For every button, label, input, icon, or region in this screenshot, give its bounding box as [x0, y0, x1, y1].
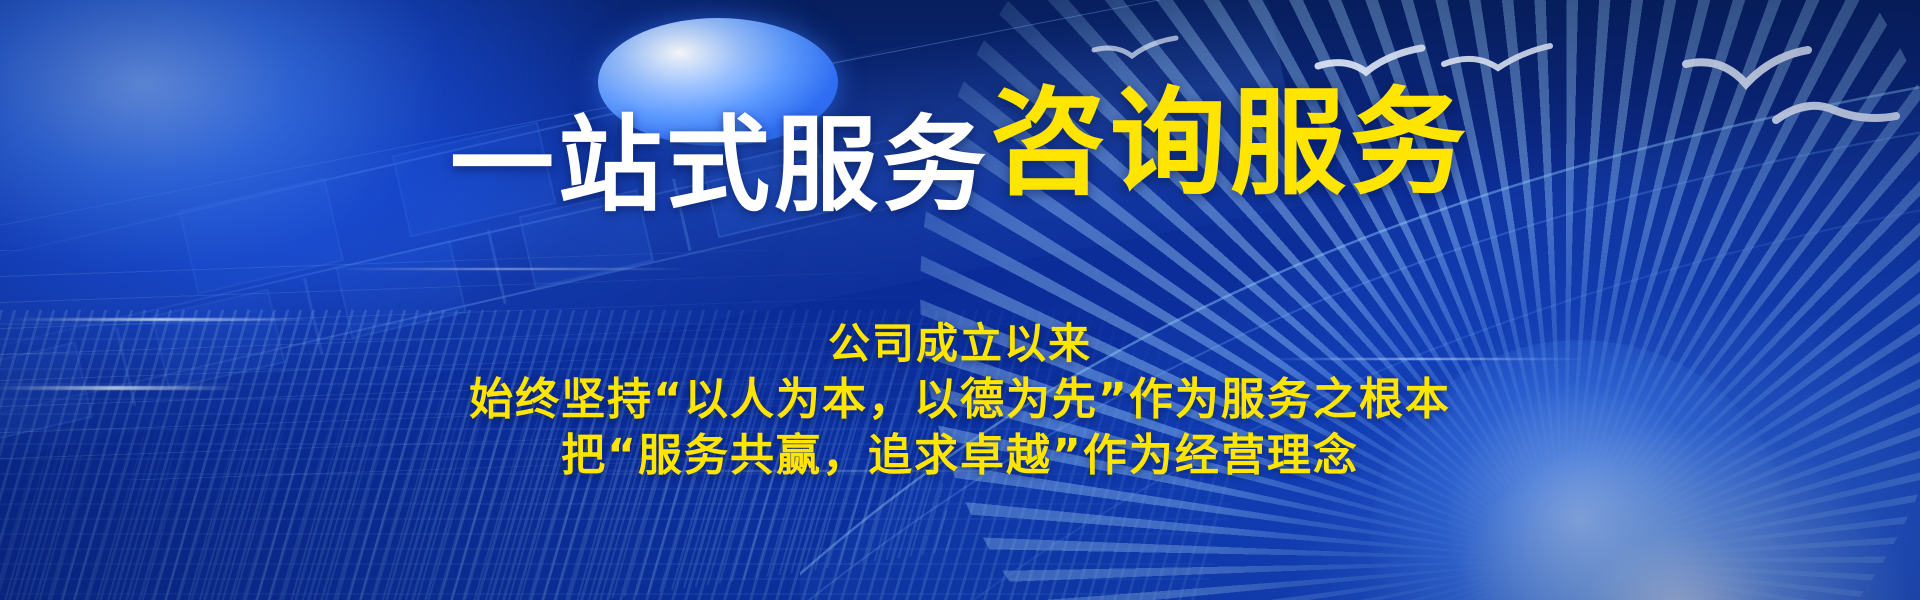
banner-subtitle: 公司成立以来 始终坚持“以人为本，以德为先”作为服务之根本 把“服务共赢，追求卓… — [0, 316, 1920, 484]
subtitle-line: 始终坚持“以人为本，以德为先”作为服务之根本 — [0, 372, 1920, 428]
subtitle-line: 把“服务共赢，追求卓越”作为经营理念 — [0, 428, 1920, 484]
banner-headline: 一站式服务咨询服务 — [0, 86, 1920, 217]
promo-banner: 一站式服务咨询服务 公司成立以来 始终坚持“以人为本，以德为先”作为服务之根本 … — [0, 0, 1920, 600]
subtitle-line: 公司成立以来 — [0, 316, 1920, 372]
headline-primary-text: 一站式服务 — [450, 104, 990, 226]
headline-accent-text: 咨询服务 — [990, 76, 1470, 211]
